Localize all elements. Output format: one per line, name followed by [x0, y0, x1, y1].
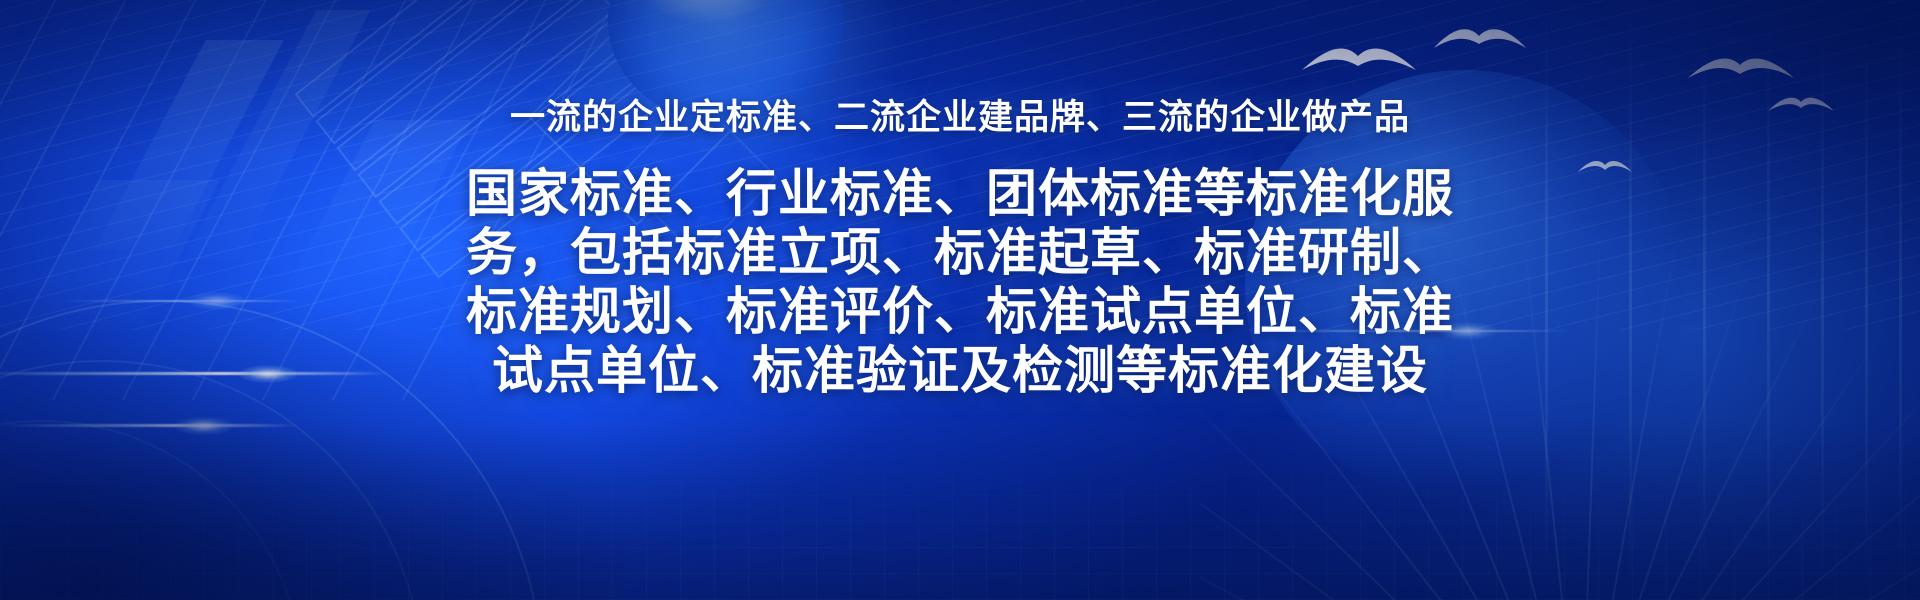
banner-headline: 一流的企业定标准、二流企业建品牌、三流的企业做产品	[0, 96, 1920, 140]
banner-subheadline: 国家标准、行业标准、团体标准等标准化服 务，包括标准立项、标准起草、标准研制、 …	[440, 164, 1480, 400]
subheadline-line-2: 务，包括标准立项、标准起草、标准研制、	[440, 223, 1480, 282]
subheadline-line-4: 试点单位、标准验证及检测等标准化建设	[440, 341, 1480, 400]
banner-text: 一流的企业定标准、二流企业建品牌、三流的企业做产品 国家标准、行业标准、团体标准…	[0, 96, 1920, 400]
subheadline-line-3: 标准规划、标准评价、标准试点单位、标准	[440, 282, 1480, 341]
promo-banner: 一流的企业定标准、二流企业建品牌、三流的企业做产品 国家标准、行业标准、团体标准…	[0, 0, 1920, 600]
subheadline-line-1: 国家标准、行业标准、团体标准等标准化服	[440, 164, 1480, 223]
